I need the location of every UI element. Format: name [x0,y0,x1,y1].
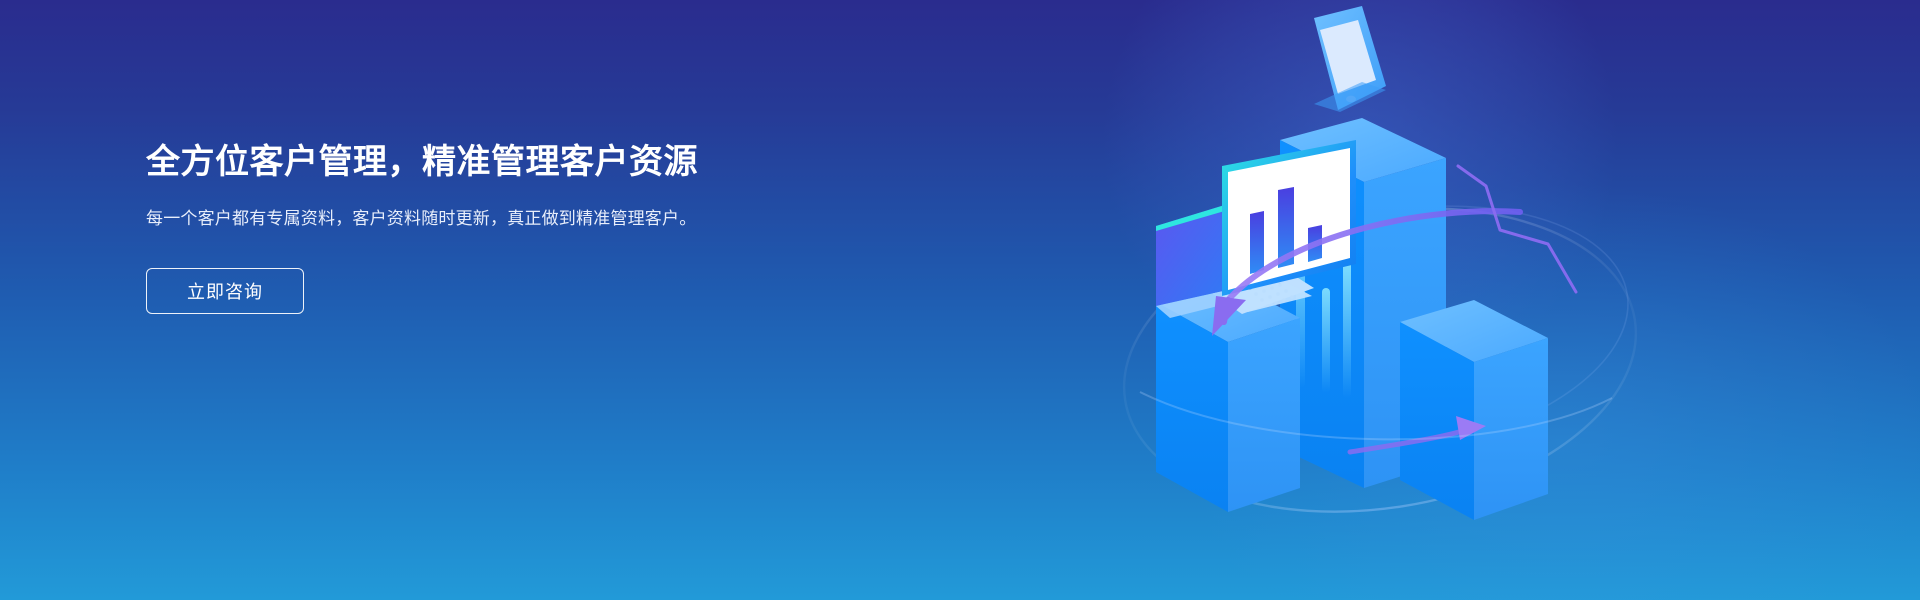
consult-now-button[interactable]: 立即咨询 [146,268,304,314]
right-pillar [1400,300,1548,520]
trend-polyline [1458,166,1576,292]
hero-illustration [1100,0,1920,600]
hero-banner: 全方位客户管理，精准管理客户资源 每一个客户都有专属资料，客户资料随时更新，真正… [0,0,1920,600]
center-pillar-tablet [1314,6,1386,112]
hero-text-block: 全方位客户管理，精准管理客户资源 每一个客户都有专属资料，客户资料随时更新，真正… [146,140,786,314]
page-title: 全方位客户管理，精准管理客户资源 [146,140,786,184]
hero-subtitle: 每一个客户都有专属资料，客户资料随时更新，真正做到精准管理客户。 [146,206,726,232]
